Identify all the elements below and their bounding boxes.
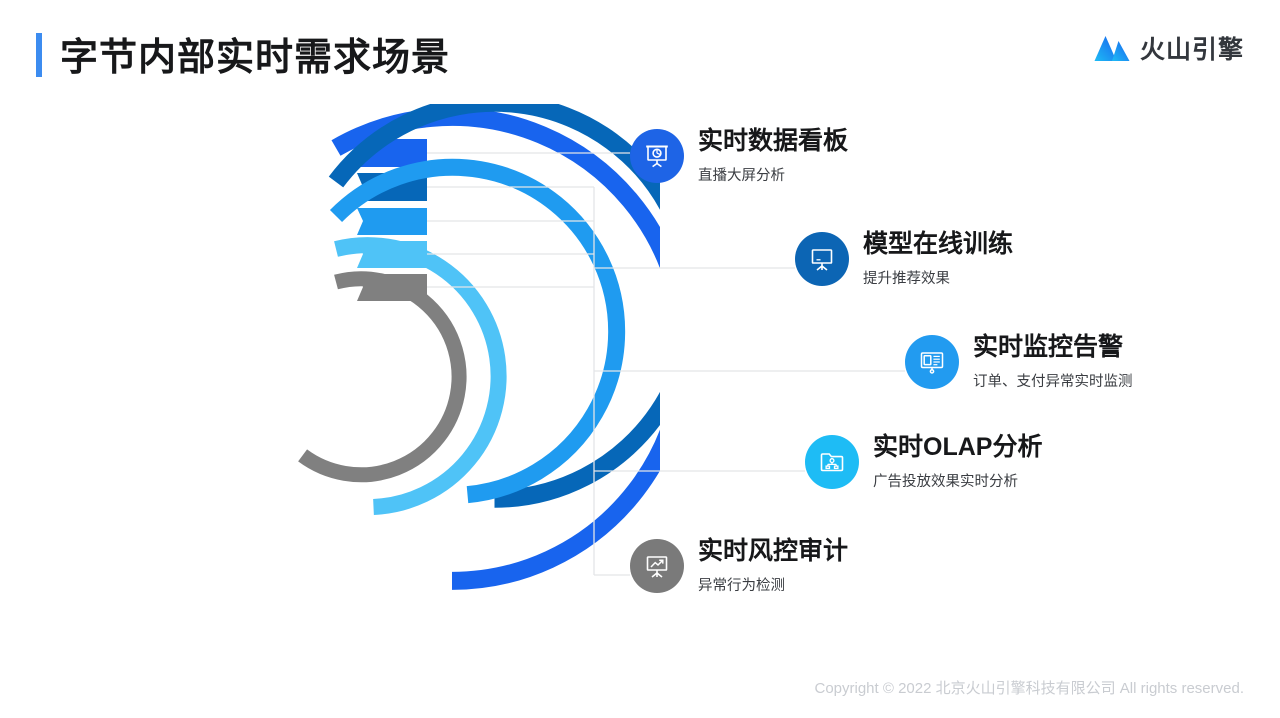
volcano-mountain-icon	[1093, 33, 1131, 63]
scenario-subtitle: 直播大屏分析	[698, 166, 848, 186]
page-title: 字节内部实时需求场景	[60, 26, 450, 81]
scenario-item-realtime-risk-audit[interactable]: 实时风控审计 异常行为检测	[630, 536, 848, 596]
footer-copyright: Copyright © 2022 北京火山引擎科技有限公司 All rights…	[814, 677, 1244, 698]
presentation-pie-chart-icon	[630, 129, 684, 183]
scenario-subtitle: 订单、支付异常实时监测	[973, 372, 1133, 392]
whiteboard-easel-icon	[795, 232, 849, 286]
scenario-text-block: 实时数据看板 直播大屏分析	[698, 126, 848, 186]
brand-logo: 火山引擎	[1093, 30, 1244, 66]
presentation-trend-up-icon	[630, 539, 684, 593]
scenario-title: 实时监控告警	[973, 332, 1133, 362]
scenario-item-realtime-dashboard[interactable]: 实时数据看板 直播大屏分析	[630, 126, 848, 186]
scenario-item-realtime-monitoring-alert[interactable]: 实时监控告警 订单、支付异常实时监测	[905, 332, 1133, 392]
title-accent-bar	[36, 33, 42, 77]
monitor-dashboard-icon	[905, 335, 959, 389]
scenario-item-online-model-training[interactable]: 模型在线训练 提升推荐效果	[795, 229, 1013, 289]
brand-logo-text: 火山引擎	[1140, 30, 1244, 66]
scenario-item-realtime-olap-analysis[interactable]: 实时OLAP分析 广告投放效果实时分析	[805, 432, 1042, 492]
scenario-title: 实时数据看板	[698, 126, 848, 156]
folder-org-chart-icon	[805, 435, 859, 489]
scenario-text-block: 实时OLAP分析 广告投放效果实时分析	[873, 432, 1042, 492]
scenario-subtitle: 广告投放效果实时分析	[873, 472, 1042, 492]
scenario-text-block: 模型在线训练 提升推荐效果	[863, 229, 1013, 289]
arc-ring-5	[303, 274, 459, 475]
scenario-text-block: 实时监控告警 订单、支付异常实时监测	[973, 332, 1133, 392]
slide-header: 字节内部实时需求场景 火山引擎	[0, 0, 1280, 104]
diagram-stage: 实时数据看板 直播大屏分析 模型在线训练 提升推荐效果	[0, 104, 1280, 664]
scenario-subtitle: 提升推荐效果	[863, 269, 1013, 289]
scenario-text-block: 实时风控审计 异常行为检测	[698, 536, 848, 596]
scenario-title: 实时风控审计	[698, 536, 848, 566]
concentric-arc-graphic	[60, 104, 660, 664]
slide-footer: Copyright © 2022 北京火山引擎科技有限公司 All rights…	[0, 664, 1280, 718]
scenario-title: 模型在线训练	[863, 229, 1013, 259]
scenario-title: 实时OLAP分析	[873, 432, 1042, 462]
scenario-subtitle: 异常行为检测	[698, 576, 848, 596]
